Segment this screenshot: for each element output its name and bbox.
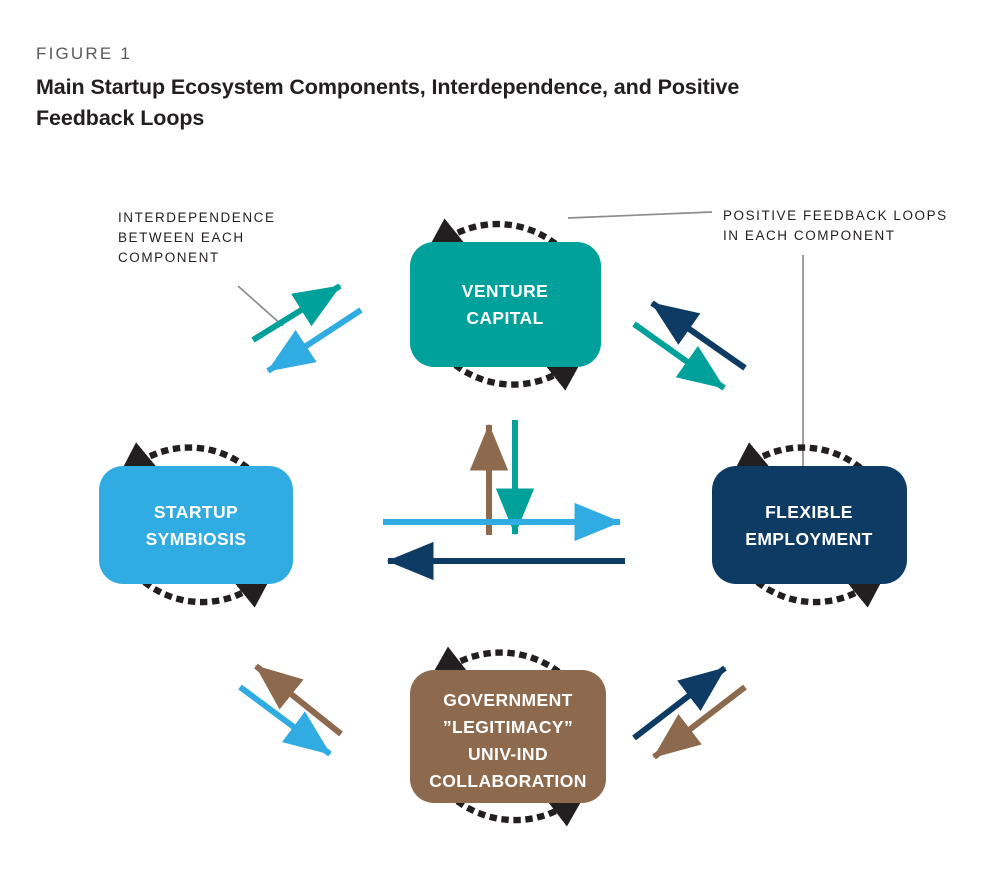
- leader-line-interdependence: [238, 286, 283, 326]
- annotation-left-line1: INTERDEPENDENCE: [118, 210, 276, 225]
- node-government-legitimacy-label-3: COLLABORATION: [429, 771, 587, 791]
- node-government-legitimacy[interactable]: GOVERNMENT ”LEGITIMACY” UNIV-IND COLLABO…: [410, 670, 606, 803]
- annotation-interdependence: INTERDEPENDENCE BETWEEN EACH COMPONENT: [118, 210, 283, 326]
- arrow-gov-to-flex: [634, 668, 725, 738]
- node-venture-capital-label-0: VENTURE: [462, 281, 548, 301]
- node-flexible-employment-shape[interactable]: [712, 466, 907, 584]
- loop-arc-bottom-government-legitimacy: [460, 800, 574, 820]
- node-flexible-employment-label-0: FLEXIBLE: [765, 502, 853, 522]
- node-government-legitimacy-label-2: UNIV-IND: [468, 744, 548, 764]
- loop-arc-top-startup-symbiosis: [130, 448, 245, 469]
- arrow-flex-to-vc: [652, 303, 745, 368]
- annotation-left-line2: BETWEEN EACH: [118, 230, 245, 245]
- leader-line-feedback-top: [568, 212, 712, 218]
- node-venture-capital-shape[interactable]: [410, 242, 601, 367]
- node-government-legitimacy-label-0: GOVERNMENT: [443, 690, 572, 710]
- loop-arc-bottom-venture-capital: [458, 364, 572, 385]
- loop-arc-top-flexible-employment: [743, 448, 858, 469]
- arrow-gov-to-startup: [256, 666, 341, 734]
- annotation-right-line2: IN EACH COMPONENT: [723, 228, 896, 243]
- node-flexible-employment-label-1: EMPLOYMENT: [745, 529, 872, 549]
- annotation-right-line1: POSITIVE FEEDBACK LOOPS: [723, 208, 948, 223]
- loop-arc-top-government-legitimacy: [441, 653, 556, 673]
- arrow-startup-to-gov: [240, 687, 330, 754]
- figure-title: Main Startup Ecosystem Components, Inter…: [36, 72, 796, 133]
- figure-root: FIGURE 1 Main Startup Ecosystem Componen…: [0, 0, 1000, 892]
- loop-arc-bottom-flexible-employment: [760, 581, 874, 602]
- node-startup-symbiosis[interactable]: STARTUP SYMBIOSIS: [99, 466, 293, 584]
- arrow-flex-to-gov: [654, 687, 745, 757]
- loop-arc-top-venture-capital: [438, 224, 553, 245]
- loop-arc-bottom-startup-symbiosis: [147, 581, 261, 602]
- node-venture-capital[interactable]: VENTURE CAPITAL: [410, 242, 601, 367]
- ecosystem-diagram: INTERDEPENDENCE BETWEEN EACH COMPONENT P…: [0, 150, 1000, 892]
- figure-title-line1: Main Startup Ecosystem Components, Inter…: [36, 75, 739, 99]
- node-startup-symbiosis-label-1: SYMBIOSIS: [146, 529, 247, 549]
- node-government-legitimacy-label-1: ”LEGITIMACY”: [443, 717, 573, 737]
- arrow-vc-to-flex: [634, 324, 724, 388]
- figure-number: FIGURE 1: [36, 44, 132, 64]
- node-startup-symbiosis-shape[interactable]: [99, 466, 293, 584]
- node-flexible-employment[interactable]: FLEXIBLE EMPLOYMENT: [712, 466, 907, 584]
- node-venture-capital-label-1: CAPITAL: [466, 308, 543, 328]
- figure-title-line2: Feedback Loops: [36, 106, 204, 130]
- annotation-left-line3: COMPONENT: [118, 250, 220, 265]
- node-startup-symbiosis-label-0: STARTUP: [154, 502, 238, 522]
